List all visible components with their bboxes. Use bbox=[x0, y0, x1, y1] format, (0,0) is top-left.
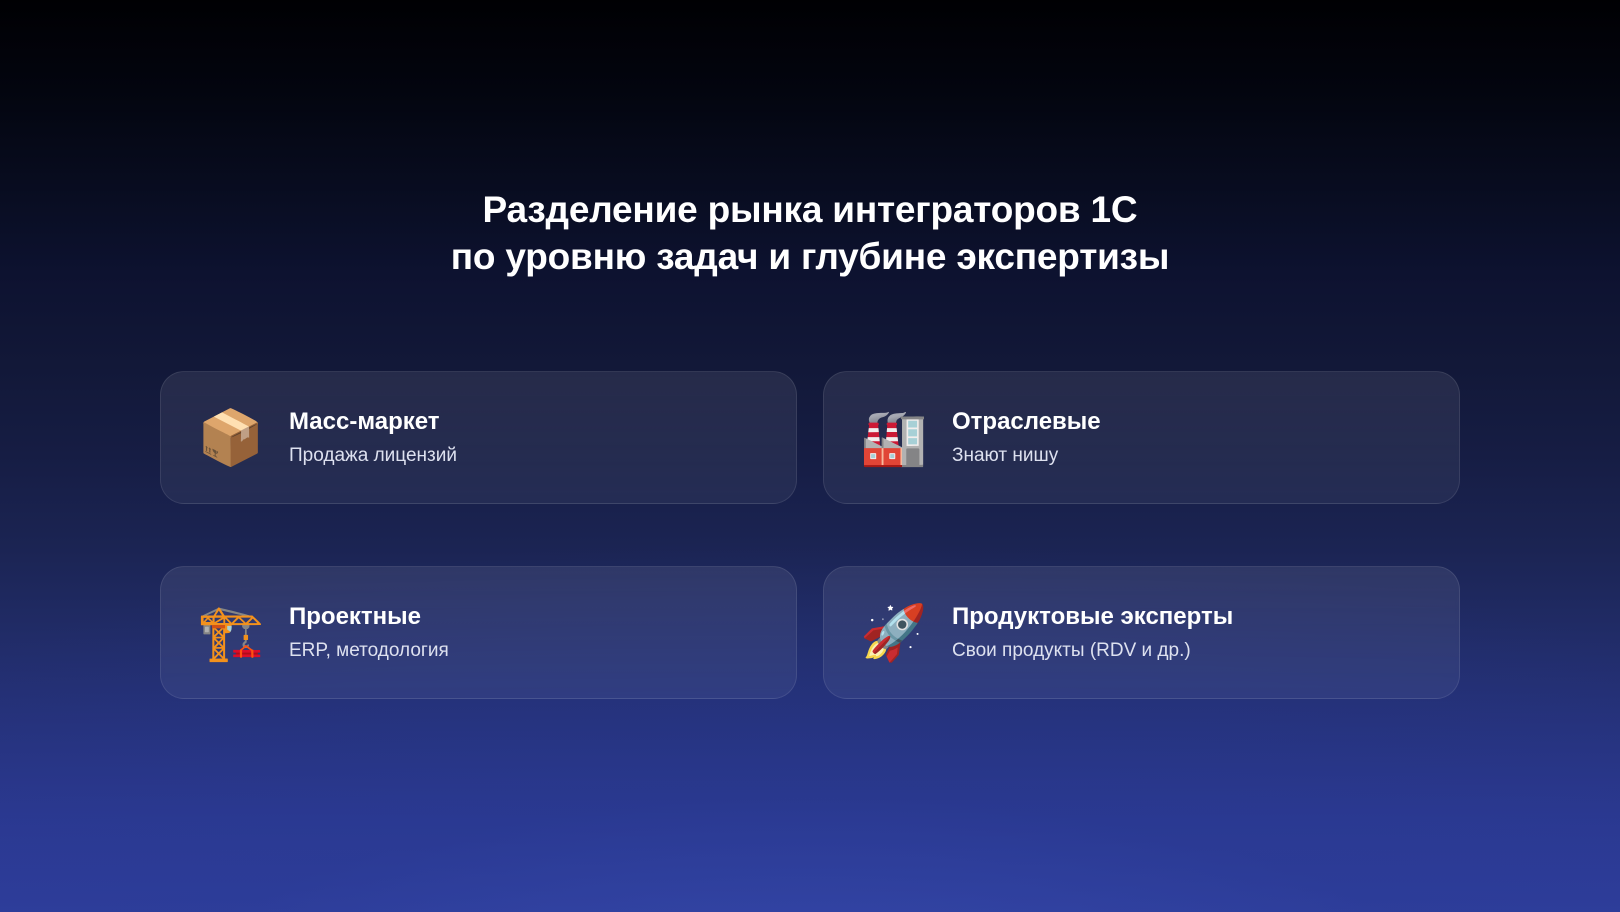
card-title: Продуктовые эксперты bbox=[952, 602, 1233, 632]
card-title: Отраслевые bbox=[952, 407, 1101, 437]
slide-canvas: Разделение рынка интеграторов 1С по уров… bbox=[0, 0, 1620, 912]
card-product-experts[interactable]: 🚀 Продуктовые эксперты Свои продукты (RD… bbox=[823, 566, 1460, 699]
card-text: Продуктовые эксперты Свои продукты (RDV … bbox=[952, 602, 1233, 663]
rocket-icon: 🚀 bbox=[860, 602, 922, 664]
card-grid: 📦 Масс-маркет Продажа лицензий 🏭 Отрасле… bbox=[160, 371, 1460, 699]
package-box-icon: 📦 bbox=[197, 407, 259, 469]
card-text: Отраслевые Знают нишу bbox=[952, 407, 1101, 468]
construction-crane-icon: 🏗️ bbox=[197, 602, 259, 664]
page-title-line-2: по уровню задач и глубине экспертизы bbox=[0, 233, 1620, 280]
card-subtitle: Свои продукты (RDV и др.) bbox=[952, 638, 1233, 663]
card-project[interactable]: 🏗️ Проектные ERP, методология bbox=[160, 566, 797, 699]
page-title: Разделение рынка интеграторов 1С по уров… bbox=[0, 186, 1620, 280]
factory-icon: 🏭 bbox=[860, 407, 922, 469]
card-industry[interactable]: 🏭 Отраслевые Знают нишу bbox=[823, 371, 1460, 504]
card-subtitle: ERP, методология bbox=[289, 638, 449, 663]
card-subtitle: Продажа лицензий bbox=[289, 443, 457, 468]
card-text: Проектные ERP, методология bbox=[289, 602, 449, 663]
card-title: Масс-маркет bbox=[289, 407, 457, 437]
card-title: Проектные bbox=[289, 602, 449, 632]
card-subtitle: Знают нишу bbox=[952, 443, 1101, 468]
card-mass-market[interactable]: 📦 Масс-маркет Продажа лицензий bbox=[160, 371, 797, 504]
page-title-line-1: Разделение рынка интеграторов 1С bbox=[0, 186, 1620, 233]
card-text: Масс-маркет Продажа лицензий bbox=[289, 407, 457, 468]
